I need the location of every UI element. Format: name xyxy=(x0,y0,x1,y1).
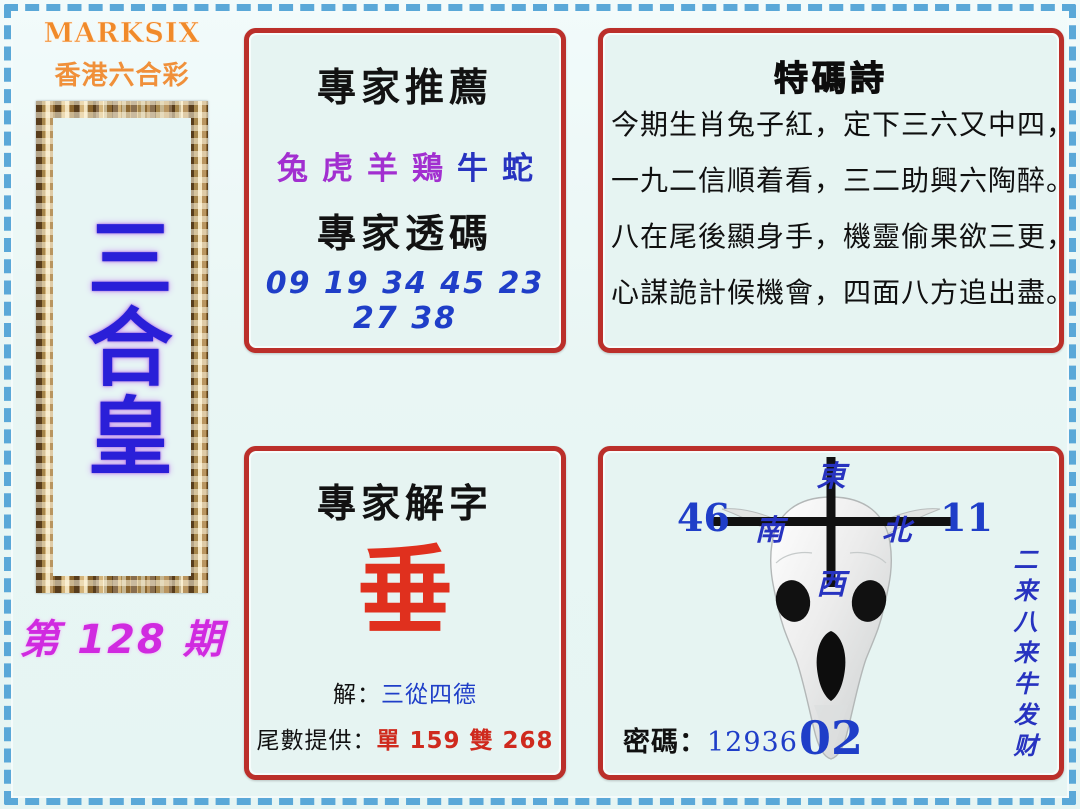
explain-label: 解： xyxy=(333,682,381,708)
lottery-poster: MARKSIX 香港六合彩 三合皇 第 128 期 專家推薦 兔 虎 羊 鶏 牛… xyxy=(0,0,1080,809)
expert-word-title: 專家解字 xyxy=(249,473,561,529)
special-code-poem-panel: 特碼詩 今期生肖兔子紅，定下三六又中四， 一九二信順着看，三二助興六陶醉。 八在… xyxy=(598,28,1064,353)
brand-english-title: MARKSIX xyxy=(16,18,228,49)
issue-number: 第 128 期 xyxy=(16,607,228,665)
poem-title: 特碼詩 xyxy=(603,51,1059,100)
tail-odd-value: 159 xyxy=(409,728,460,754)
tail-even-label: 雙 xyxy=(470,728,494,754)
brand-chinese-title: 香港六合彩 xyxy=(16,55,228,92)
zodiac-item-2: 羊 xyxy=(367,143,398,188)
frame-inner-area: 三合皇 xyxy=(53,118,191,576)
explain-value: 三從四德 xyxy=(381,682,477,708)
bottom-special-number: 02 xyxy=(799,711,863,765)
tail-even-value: 268 xyxy=(503,728,554,754)
tail-label: 尾數提供： xyxy=(256,728,376,754)
secret-code-label: 密碼： xyxy=(623,727,707,758)
zodiac-item-3: 鶏 xyxy=(412,143,443,188)
compass-label-east: 東 xyxy=(816,453,845,495)
right-number: 11 xyxy=(940,495,993,540)
lucky-phrase: 二来八来牛发财 xyxy=(1006,547,1041,764)
expert-word-panel: 專家解字 垂 解：三從四德 尾數提供：單 159 雙 268 xyxy=(244,446,566,780)
zodiac-row: 兔 虎 羊 鶏 牛 蛇 xyxy=(249,143,561,188)
zodiac-item-5: 蛇 xyxy=(502,143,533,188)
skull-image-area: 東 西 南 北 46 11 二来八来牛发财 密碼：12936 02 xyxy=(603,451,1059,775)
expert-recommend-title: 專家推薦 xyxy=(249,57,561,113)
zodiac-item-1: 虎 xyxy=(322,143,353,188)
brand-column: MARKSIX 香港六合彩 三合皇 第 128 期 xyxy=(16,14,228,786)
zodiac-item-0: 兔 xyxy=(277,143,308,188)
secret-code-row: 密碼：12936 xyxy=(623,720,798,759)
featured-character: 垂 xyxy=(249,543,561,639)
expert-recommend-panel: 專家推薦 兔 虎 羊 鶏 牛 蛇 專家透碼 09 19 34 45 23 27 … xyxy=(244,28,566,353)
tail-number-row: 尾數提供：單 159 雙 268 xyxy=(249,721,561,755)
zodiac-item-4: 牛 xyxy=(457,143,488,188)
recommended-numbers: 09 19 34 45 23 27 38 xyxy=(249,266,561,336)
compass-label-south: 南 xyxy=(755,507,784,549)
tail-odd-label: 單 xyxy=(376,728,400,754)
poem-line-2: 一九二信順着看，三二助興六陶醉。 xyxy=(611,159,1051,199)
poem-line-3: 八在尾後顯身手，機靈偷果欲三更， xyxy=(611,215,1051,255)
compass-label-north: 北 xyxy=(882,507,911,549)
vertical-brand-title: 三合皇 xyxy=(78,214,166,481)
skull-compass-panel: 東 西 南 北 46 11 二来八来牛发财 密碼：12936 02 xyxy=(598,446,1064,780)
secret-code-value: 12936 xyxy=(707,727,798,758)
expert-code-subtitle: 專家透碼 xyxy=(249,203,561,259)
compass-label-west: 西 xyxy=(816,561,845,603)
ornate-gold-frame: 三合皇 xyxy=(36,101,208,593)
left-number: 46 xyxy=(677,495,730,540)
poem-line-4: 心謀詭計候機會，四面八方追出盡。 xyxy=(611,271,1051,311)
explain-row: 解：三從四德 xyxy=(249,675,561,709)
poem-line-1: 今期生肖兔子紅，定下三六又中四， xyxy=(611,103,1051,143)
